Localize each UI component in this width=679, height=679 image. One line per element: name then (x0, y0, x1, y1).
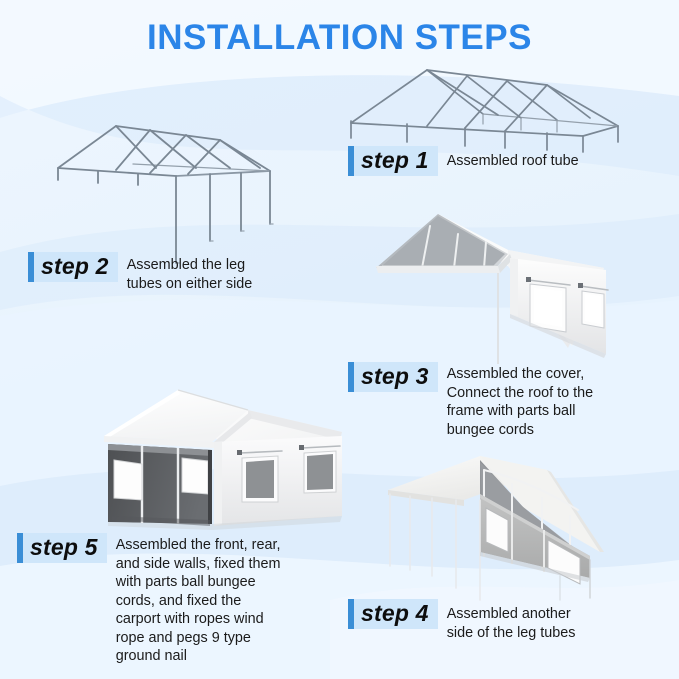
step-block-4: step 4 Assembled another side of the leg… (348, 599, 576, 642)
step-description-3: Assembled the cover, Connect the roof to… (447, 365, 593, 439)
step-description-1: Assembled roof tube (447, 152, 579, 171)
step-tag-label-4: step 4 (361, 600, 429, 627)
illustration-frame-with-legs (38, 118, 338, 268)
step-block-1: step 1 Assembled roof tube (348, 146, 579, 176)
illustration-carport-with-cover (358, 196, 624, 366)
illustration-roof-tube-frame (335, 58, 635, 158)
step-tag-label-3: step 3 (361, 363, 429, 390)
illustration-complete-carport (82, 374, 354, 546)
step-block-2: step 2 Assembled the leg tubes on either… (28, 252, 252, 293)
step-tag-2: step 2 (28, 252, 118, 282)
installation-steps-poster: INSTALLATION STEPS (0, 0, 679, 679)
step-tag-label-1: step 1 (361, 147, 429, 174)
step-tag-label-2: step 2 (41, 253, 109, 280)
step-block-5: step 5 Assembled the front, rear, and si… (17, 533, 280, 666)
step-tag-label-5: step 5 (30, 534, 98, 561)
step-tag-1: step 1 (348, 146, 438, 176)
step-description-4: Assembled another side of the leg tubes (447, 605, 576, 642)
illustration-carport-other-side-walls (372, 448, 647, 608)
step-description-5: Assembled the front, rear, and side wall… (116, 536, 281, 666)
step-description-2: Assembled the leg tubes on either side (127, 256, 253, 293)
step-tag-4: step 4 (348, 599, 438, 629)
step-block-3: step 3 Assembled the cover, Connect the … (348, 362, 593, 439)
page-title: INSTALLATION STEPS (0, 18, 679, 58)
step-tag-3: step 3 (348, 362, 438, 392)
step-tag-5: step 5 (17, 533, 107, 563)
